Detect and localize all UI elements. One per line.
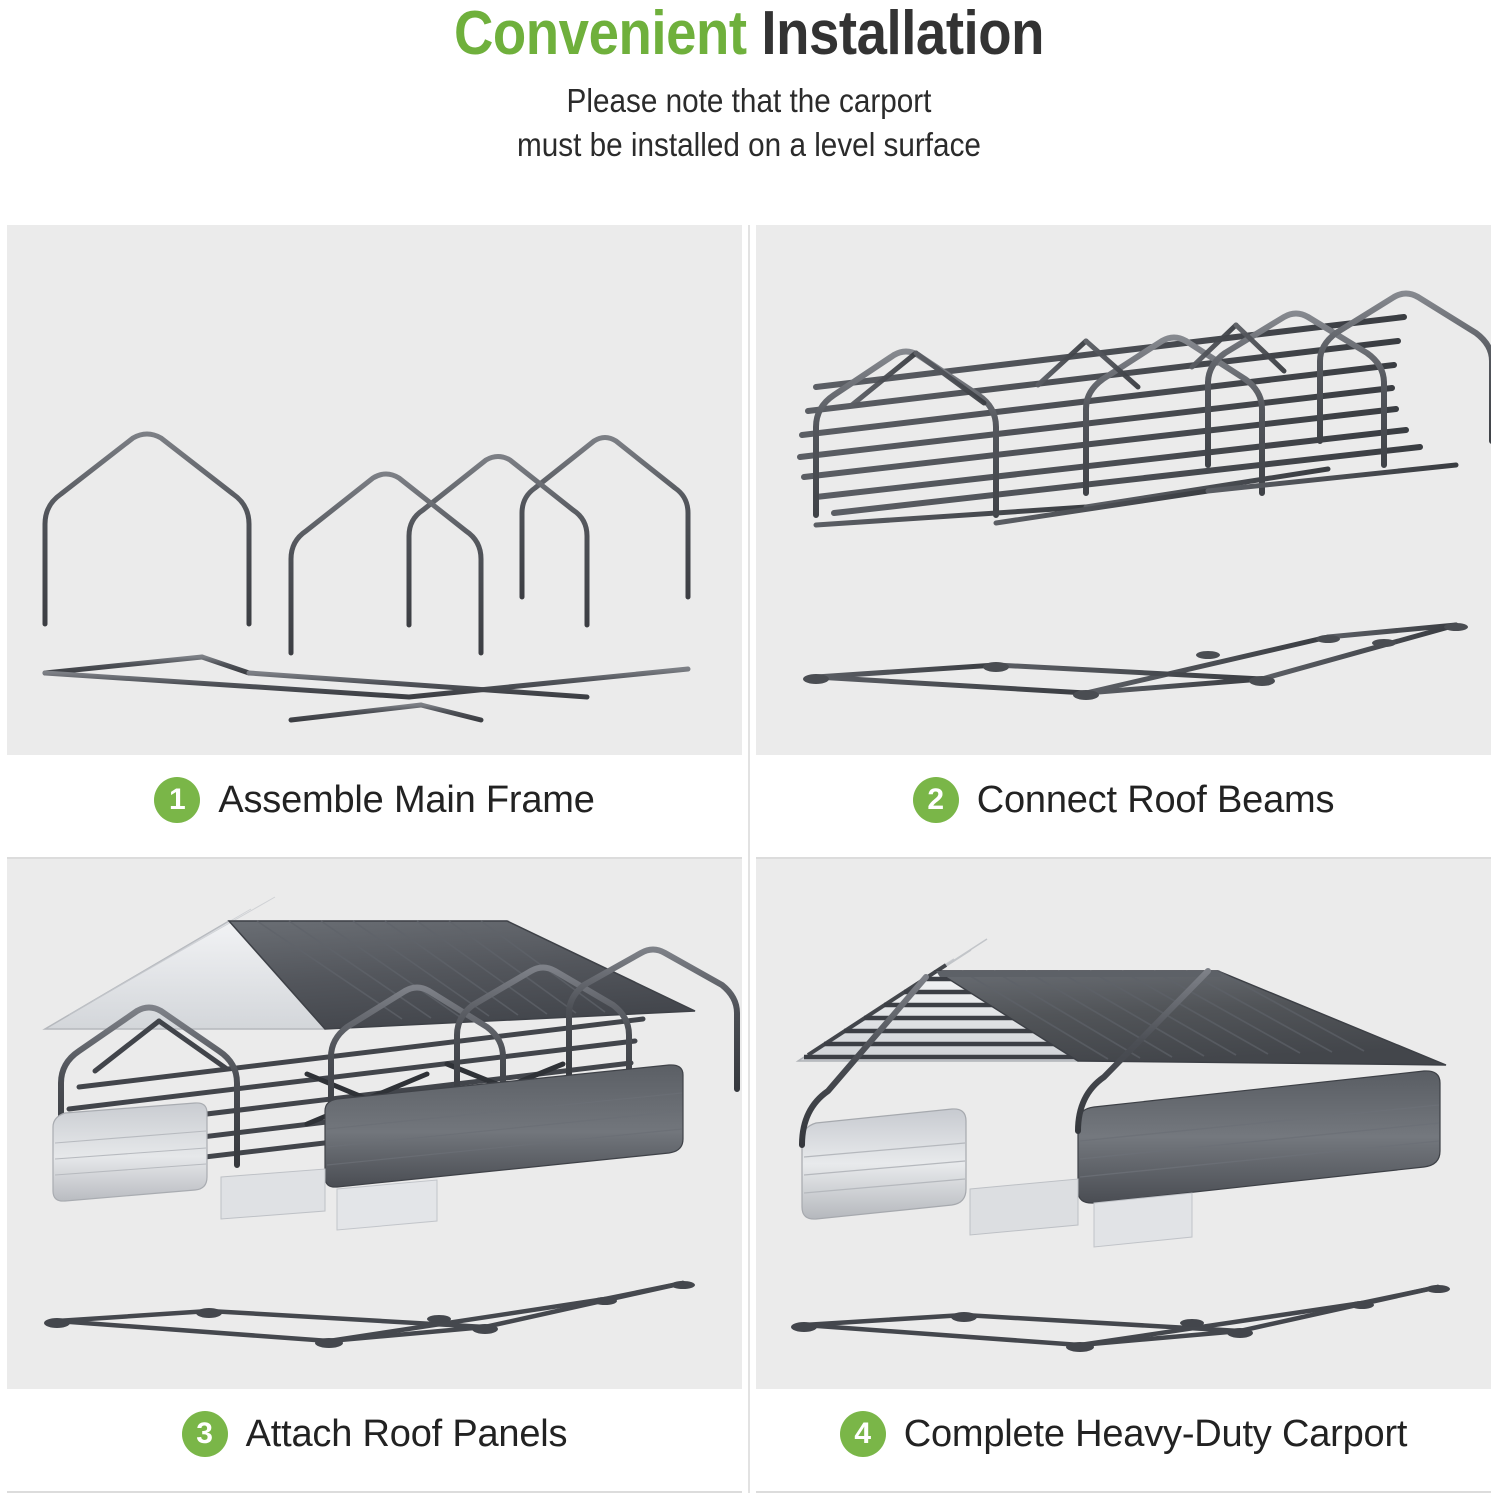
subtitle-line-1: Please note that the carport	[75, 79, 1423, 123]
step-card-3: 3 Attach Roof Panels	[7, 859, 742, 1493]
page-title: Convenient Installation	[90, 2, 1408, 65]
step-card-4: 4 Complete Heavy-Duty Carport	[756, 859, 1491, 1493]
step-1-label: Assemble Main Frame	[218, 779, 594, 822]
step-4-illustration	[756, 859, 1491, 1389]
step-4-number-badge: 4	[840, 1411, 886, 1457]
step-2-number-badge: 2	[913, 777, 959, 823]
header: Convenient Installation Please note that…	[0, 0, 1498, 168]
step-1-number-badge: 1	[154, 777, 200, 823]
step-2-caption: 2 Connect Roof Beams	[756, 755, 1491, 859]
page-subtitle: Please note that the carport must be ins…	[75, 79, 1423, 167]
step-3-number-badge: 3	[182, 1411, 228, 1457]
step-2-label: Connect Roof Beams	[977, 779, 1335, 822]
step-1-caption: 1 Assemble Main Frame	[7, 755, 742, 859]
step-3-label: Attach Roof Panels	[246, 1413, 568, 1456]
page-title-accent: Convenient	[454, 0, 747, 68]
step-2-illustration	[756, 225, 1491, 755]
step-4-caption: 4 Complete Heavy-Duty Carport	[756, 1389, 1491, 1493]
installation-infographic: Convenient Installation Please note that…	[0, 0, 1498, 1500]
page-title-main: Installation	[761, 0, 1044, 68]
step-3-illustration	[7, 859, 742, 1389]
step-4-label: Complete Heavy-Duty Carport	[904, 1413, 1408, 1456]
step-3-caption: 3 Attach Roof Panels	[7, 1389, 742, 1493]
subtitle-line-2: must be installed on a level surface	[75, 123, 1423, 167]
step-1-illustration	[7, 225, 742, 755]
steps-grid: 1 Assemble Main Frame	[7, 225, 1491, 1493]
step-card-2: 2 Connect Roof Beams	[756, 225, 1491, 859]
step-card-1: 1 Assemble Main Frame	[7, 225, 742, 859]
